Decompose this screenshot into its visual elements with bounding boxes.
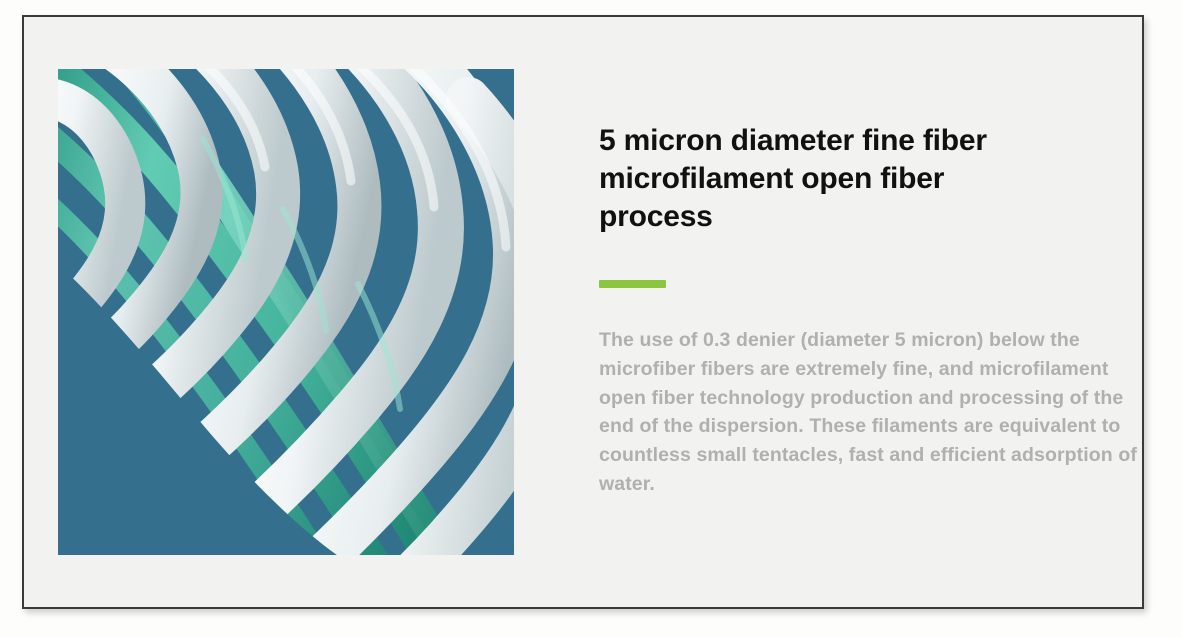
fiber-image — [58, 69, 514, 555]
page-title: 5 micron diameter fine fiber microfilame… — [599, 122, 1029, 236]
fiber-illustration — [58, 69, 514, 555]
body-paragraph: The use of 0.3 denier (diameter 5 micron… — [599, 326, 1150, 498]
text-column: 5 micron diameter fine fiber microfilame… — [599, 122, 1124, 498]
accent-divider — [599, 280, 666, 288]
slide-page: 5 micron diameter fine fiber microfilame… — [0, 0, 1182, 637]
content-card: 5 micron diameter fine fiber microfilame… — [22, 15, 1144, 609]
card-inner-surface: 5 micron diameter fine fiber microfilame… — [24, 17, 1142, 607]
